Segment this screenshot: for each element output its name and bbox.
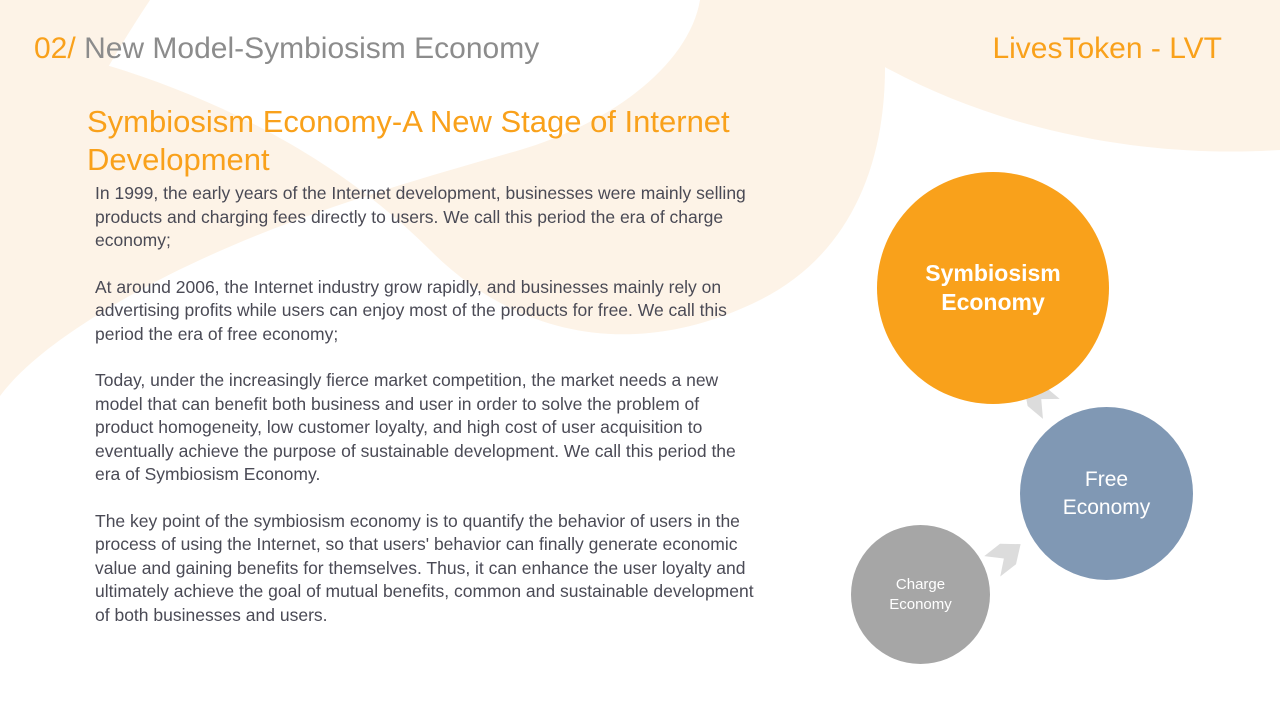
page-title: Symbiosism Economy-A New Stage of Intern… <box>87 103 767 179</box>
paragraph-2: At around 2006, the Internet industry gr… <box>95 276 760 347</box>
paragraph-3: Today, under the increasingly fierce mar… <box>95 369 760 487</box>
body-copy: In 1999, the early years of the Internet… <box>95 182 760 627</box>
node-label-line2: Economy <box>925 288 1061 317</box>
brand-label: LivesToken - LVT <box>992 30 1222 68</box>
node-label-line1: Free <box>1063 466 1151 494</box>
chevron-arrow-icon-charge-to-free <box>984 534 1028 577</box>
node-label-line1: Charge <box>889 575 952 595</box>
slide-canvas: 02/ New Model-Symbiosism Economy LivesTo… <box>0 0 1280 720</box>
diagram-node-free: Free Economy <box>1020 407 1193 580</box>
node-label-line1: Symbiosism <box>925 259 1061 288</box>
slide-kicker: 02/ New Model-Symbiosism Economy <box>34 30 539 68</box>
paragraph-1: In 1999, the early years of the Internet… <box>95 182 760 253</box>
paragraph-4: The key point of the symbiosism economy … <box>95 510 760 628</box>
diagram-node-symbiosism: Symbiosism Economy <box>877 172 1109 404</box>
diagram-node-charge: Charge Economy <box>851 525 990 664</box>
section-title: New Model-Symbiosism Economy <box>84 32 539 65</box>
section-number: 02/ <box>34 32 76 65</box>
node-label-line2: Economy <box>1063 494 1151 522</box>
node-label-line2: Economy <box>889 595 952 615</box>
